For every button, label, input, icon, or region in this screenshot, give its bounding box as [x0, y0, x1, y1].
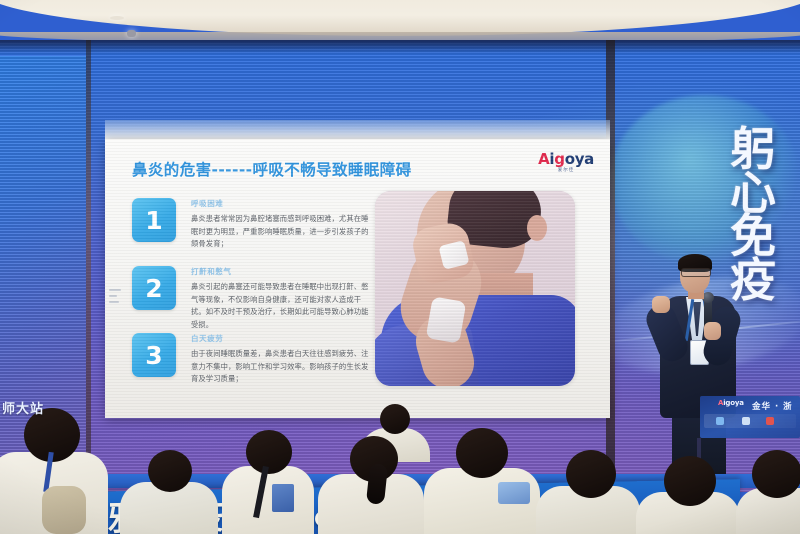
slide-title: 鼻炎的危害------呼吸不畅导致睡眠障碍 — [132, 158, 412, 180]
item-heading: 白天疲劳 — [191, 333, 373, 344]
logo-wordmark: Aigoya — [538, 152, 594, 167]
audience-member — [148, 450, 192, 492]
audience-member — [566, 450, 616, 498]
slide-photo — [375, 191, 575, 386]
slide-item-3: 3 白天疲劳 由于夜间睡眠质量差，鼻炎患者白天往往感到疲劳、注意力不集中，影响工… — [132, 333, 373, 386]
aigoya-logo: Aigoya 爱尔佳 — [538, 152, 594, 174]
slide-item-1: 1 呼吸困难 鼻炎患者常常因为鼻腔堵塞而感到呼吸困难，尤其在睡眠时更为明显，严重… — [132, 198, 373, 251]
left-panel-label: 师大站 — [2, 398, 44, 417]
presentation-slide: 鼻炎的危害------呼吸不畅导致睡眠障碍 Aigoya 爱尔佳 1 呼吸困难 … — [105, 139, 610, 418]
wall-seam-left — [86, 40, 91, 492]
item-number-badge: 3 — [132, 333, 176, 377]
audience-member — [752, 450, 800, 498]
glasses-icon — [681, 268, 711, 277]
item-heading: 打鼾和憋气 — [191, 266, 373, 277]
logo-subtitle: 爱尔佳 — [538, 169, 594, 174]
audience-member — [456, 428, 508, 478]
slide-margin-marks — [109, 289, 121, 307]
backdrop-top-shadow — [0, 40, 800, 54]
item-number-badge: 2 — [132, 266, 176, 310]
item-body: 鼻炎引起的鼻塞还可能导致患者在睡眠中出现打鼾、憋气等现象，不仅影响自身健康，还可… — [191, 281, 373, 331]
audience-member — [222, 466, 314, 534]
audience-member — [664, 456, 716, 506]
conference-photo: 师大站 鼻炎的危害------呼吸不畅导致睡眠障碍 Aigoya 爱尔佳 1 呼… — [0, 0, 800, 534]
speaker-presenter — [652, 252, 744, 492]
audience-member — [246, 430, 292, 474]
item-body: 鼻炎患者常常因为鼻腔堵塞而感到呼吸困难，尤其在睡眠时更为明显，严重影响睡眠质量，… — [191, 213, 373, 251]
attendee-badge — [272, 484, 294, 512]
ceiling-light-icon — [110, 16, 124, 20]
ceiling-speaker-icon — [127, 30, 136, 37]
standee-logo: Aigoya — [718, 399, 744, 407]
standee-location-label: 金华 · 浙 — [752, 400, 793, 412]
item-body: 由于夜间睡眠质量差，鼻炎患者白天往往感到疲劳、注意力不集中，影响工作和学习效率。… — [191, 348, 373, 386]
screen-top-bezel — [105, 120, 610, 140]
slide-item-2: 2 打鼾和憋气 鼻炎引起的鼻塞还可能导致患者在睡眠中出现打鼾、憋气等现象，不仅影… — [132, 266, 373, 331]
item-heading: 呼吸困难 — [191, 198, 373, 209]
audience-member — [380, 404, 410, 434]
backpack — [42, 486, 86, 534]
item-number-badge: 1 — [132, 198, 176, 242]
